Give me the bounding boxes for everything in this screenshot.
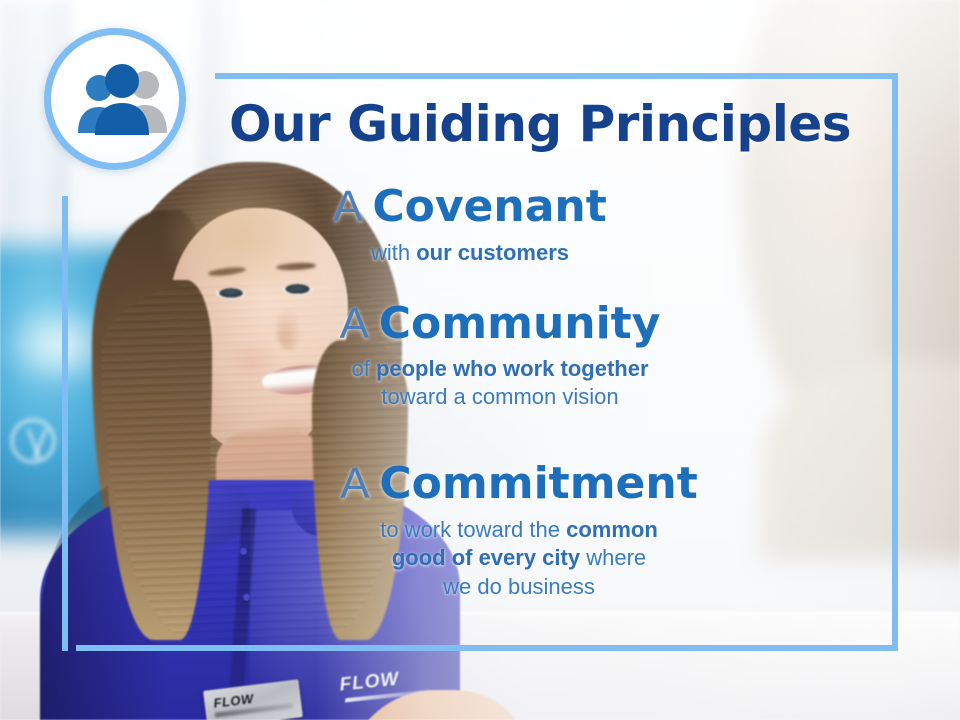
subline-bold: common <box>566 517 658 542</box>
principle-community-title: A Community <box>40 302 960 347</box>
principle-covenant: A Covenant with our customers <box>0 185 960 267</box>
subline-text: of <box>351 356 375 381</box>
principle-covenant-subline-1: with our customers <box>0 239 940 268</box>
subline-bold: our customers <box>416 240 569 265</box>
subline-text: with <box>371 240 416 265</box>
principle-commitment-keyword: Commitment <box>379 458 697 509</box>
principle-commitment-subline-2: good of every city where <box>78 544 960 573</box>
principle-covenant-title: A Covenant <box>0 185 940 230</box>
principle-commitment-subtitle: to work toward the common good of every … <box>78 516 960 602</box>
subline-bold: good of every city <box>392 545 580 570</box>
principle-commitment: A Commitment to work toward the common g… <box>0 462 960 602</box>
principle-commitment-title: A Commitment <box>78 462 960 507</box>
banner-graphic: FLOW FLOW <box>0 0 960 720</box>
subline-bold: people who work together <box>376 356 649 381</box>
principle-community-lead: A <box>340 299 379 348</box>
principle-commitment-subline-1: to work toward the common <box>78 516 960 545</box>
principle-community-subtitle: of people who work together toward a com… <box>40 355 960 412</box>
subline-text: toward a common vision <box>381 384 618 409</box>
principle-covenant-subtitle: with our customers <box>0 239 940 268</box>
principle-commitment-lead: A <box>340 459 379 508</box>
subline-text: where <box>580 545 646 570</box>
subline-text: we do business <box>443 574 595 599</box>
principle-covenant-lead: A <box>333 182 372 231</box>
principle-community-subline-1: of people who work together <box>40 355 960 384</box>
principle-commitment-subline-3: we do business <box>78 573 960 602</box>
principle-covenant-keyword: Covenant <box>372 181 606 232</box>
principle-community-subline-2: toward a common vision <box>40 383 960 412</box>
subline-text: to work toward the <box>380 517 566 542</box>
page-title: Our Guiding Principles <box>0 95 960 153</box>
principle-community-keyword: Community <box>379 298 661 349</box>
principle-community: A Community of people who work together … <box>0 302 960 412</box>
